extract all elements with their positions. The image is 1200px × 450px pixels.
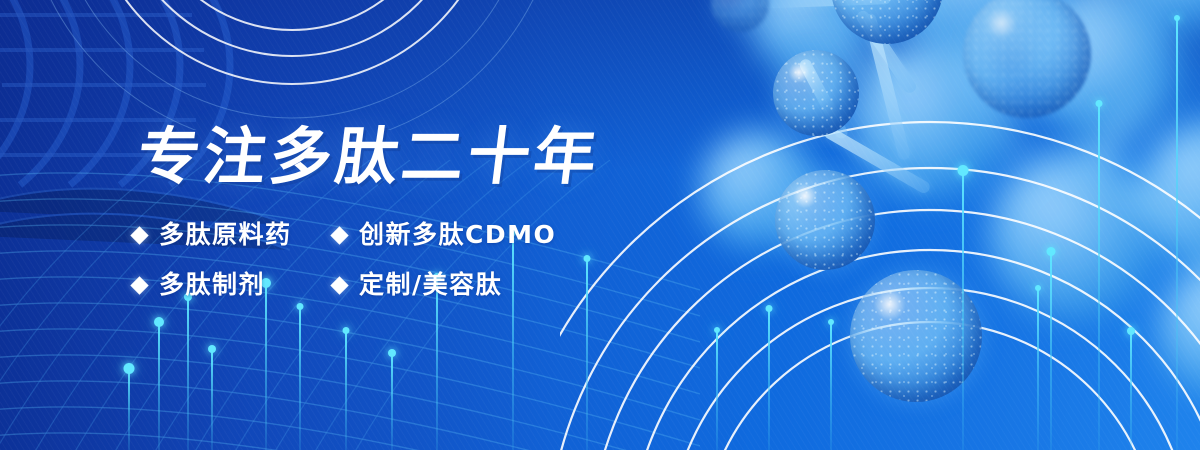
- feature-row-2: 多肽制剂 定制/美容肽: [133, 270, 603, 300]
- diamond-icon: [330, 276, 348, 294]
- feature-label: 多肽制剂: [159, 270, 265, 300]
- feature-label: 定制/美容肽: [359, 270, 502, 300]
- peptide-banner: 专注多肽二十年 多肽原料药 创新多肽CDMO 多肽制剂: [0, 0, 1200, 450]
- diamond-icon: [330, 226, 348, 244]
- feature-row-1: 多肽原料药 创新多肽CDMO: [133, 220, 603, 250]
- feature-item-custom[interactable]: 定制/美容肽: [333, 270, 502, 300]
- page-title: 专注多肽二十年: [134, 122, 605, 192]
- feature-item-api[interactable]: 多肽原料药: [133, 220, 333, 250]
- diamond-icon: [130, 226, 148, 244]
- feature-item-formulation[interactable]: 多肽制剂: [133, 270, 333, 300]
- feature-list: 多肽原料药 创新多肽CDMO 多肽制剂 定制/美容肽: [133, 220, 603, 320]
- feature-label: 创新多肽CDMO: [359, 220, 556, 250]
- diamond-icon: [130, 276, 148, 294]
- feature-item-cdmo[interactable]: 创新多肽CDMO: [333, 220, 556, 250]
- banner-content: 专注多肽二十年 多肽原料药 创新多肽CDMO 多肽制剂: [0, 0, 1200, 450]
- feature-label: 多肽原料药: [159, 220, 292, 250]
